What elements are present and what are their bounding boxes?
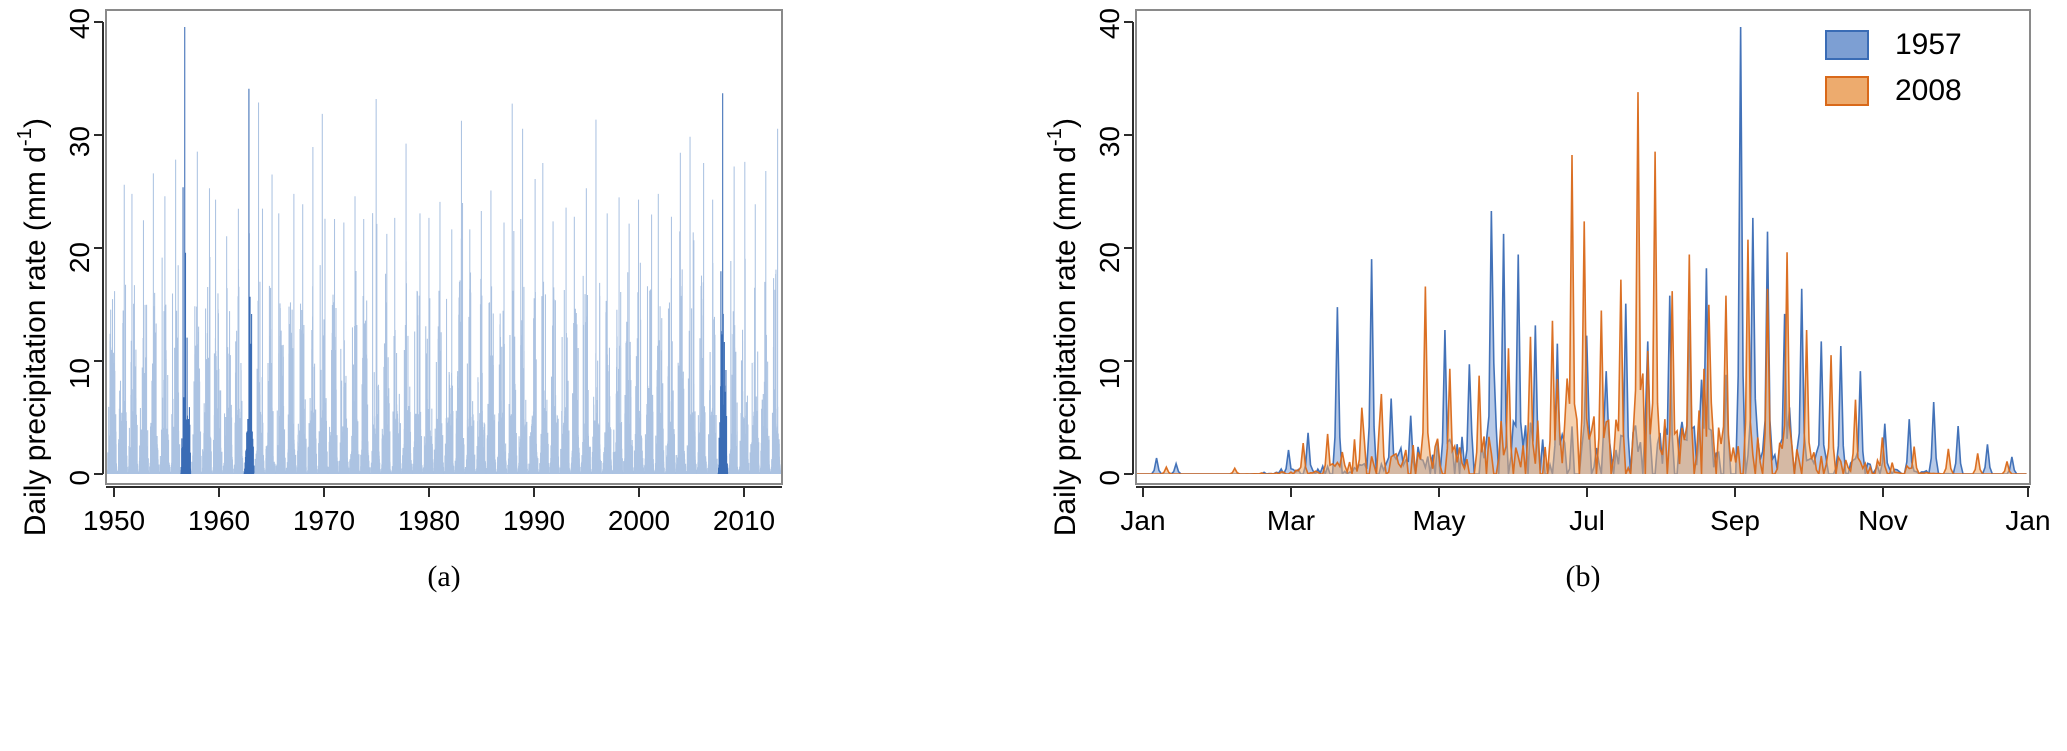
panel-a-xtick-2000: 2000 [589,505,689,537]
panel-b-xtick-may: May [1389,505,1489,537]
panel-a-plot [0,0,1030,751]
panel-b-xtick-nov: Nov [1833,505,1933,537]
legend-swatch-1957 [1825,30,1869,60]
panel-b-xtick-jan1: Jan [1093,505,1193,537]
figure-root: Daily precipitation rate (mm d-1) 40 30 … [0,0,2067,751]
panel-b-xtick-mar: Mar [1241,505,1341,537]
legend-label-2008: 2008 [1895,74,1962,108]
legend-swatch-2008 [1825,76,1869,106]
panel-a-xtick-2010: 2010 [694,505,794,537]
legend-item-1957[interactable]: 1957 [1825,22,1962,68]
panel-b-xtick-jan2: Jan [1978,505,2067,537]
panel-a-xtick-1980: 1980 [379,505,479,537]
panel-b-legend: 1957 2008 [1825,22,1962,114]
panel-b: Daily precipitation rate (mm d-1) 40 30 … [1030,0,2067,751]
panel-a-caption: (a) [344,560,544,594]
panel-b-xtick-jul: Jul [1537,505,1637,537]
legend-label-1957: 1957 [1895,28,1962,62]
panel-a-xtick-1990: 1990 [484,505,584,537]
panel-b-caption: (b) [1483,560,1683,594]
panel-a-xtick-1950: 1950 [64,505,164,537]
panel-b-xtick-sep: Sep [1685,505,1785,537]
legend-item-2008[interactable]: 2008 [1825,68,1962,114]
panel-a: Daily precipitation rate (mm d-1) 40 30 … [0,0,1030,751]
panel-a-xtick-1960: 1960 [169,505,269,537]
panel-a-xtick-1970: 1970 [274,505,374,537]
